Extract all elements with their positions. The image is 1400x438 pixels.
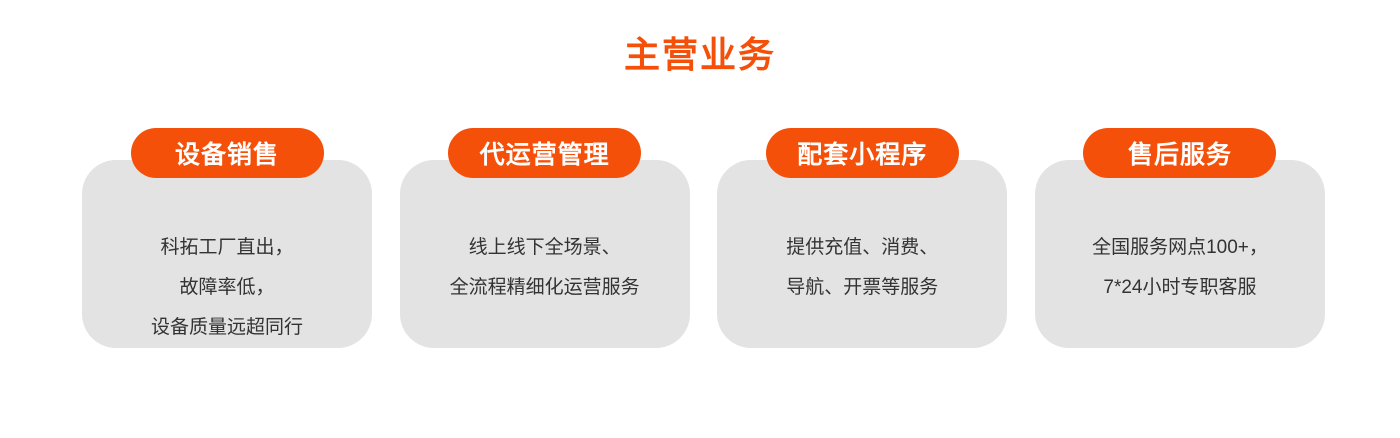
card-description-line: 全国服务网点100+，: [1035, 228, 1325, 268]
main-business-section: 主营业务 设备销售 科拓工厂直出， 故障率低， 设备质量远超同行 代运营管理 线…: [0, 0, 1400, 438]
card-description: 全国服务网点100+， 7*24小时专职客服: [1035, 228, 1325, 308]
card-description: 提供充值、消费、 导航、开票等服务: [717, 228, 1007, 308]
business-card-list: 设备销售 科拓工厂直出， 故障率低， 设备质量远超同行 代运营管理 线上线下全场…: [82, 128, 1325, 348]
card-description-line: 故障率低，: [82, 268, 372, 308]
card-badge-title: 售后服务: [1083, 128, 1276, 178]
card-badge-title: 配套小程序: [766, 128, 959, 178]
card-description-line: 线上线下全场景、: [400, 228, 690, 268]
card-badge-title: 代运营管理: [448, 128, 641, 178]
business-card[interactable]: 设备销售 科拓工厂直出， 故障率低， 设备质量远超同行: [82, 128, 372, 348]
business-card[interactable]: 代运营管理 线上线下全场景、 全流程精细化运营服务: [400, 128, 690, 348]
card-description-line: 全流程精细化运营服务: [400, 268, 690, 308]
card-description-line: 设备质量远超同行: [82, 308, 372, 348]
card-description: 科拓工厂直出， 故障率低， 设备质量远超同行: [82, 228, 372, 348]
card-description-line: 科拓工厂直出，: [82, 228, 372, 268]
business-card[interactable]: 配套小程序 提供充值、消费、 导航、开票等服务: [717, 128, 1007, 348]
card-description: 线上线下全场景、 全流程精细化运营服务: [400, 228, 690, 308]
card-description-line: 提供充值、消费、: [717, 228, 1007, 268]
page-title: 主营业务: [0, 30, 1400, 80]
card-description-line: 导航、开票等服务: [717, 268, 1007, 308]
business-card[interactable]: 售后服务 全国服务网点100+， 7*24小时专职客服: [1035, 128, 1325, 348]
card-description-line: 7*24小时专职客服: [1035, 268, 1325, 308]
card-badge-title: 设备销售: [131, 128, 324, 178]
